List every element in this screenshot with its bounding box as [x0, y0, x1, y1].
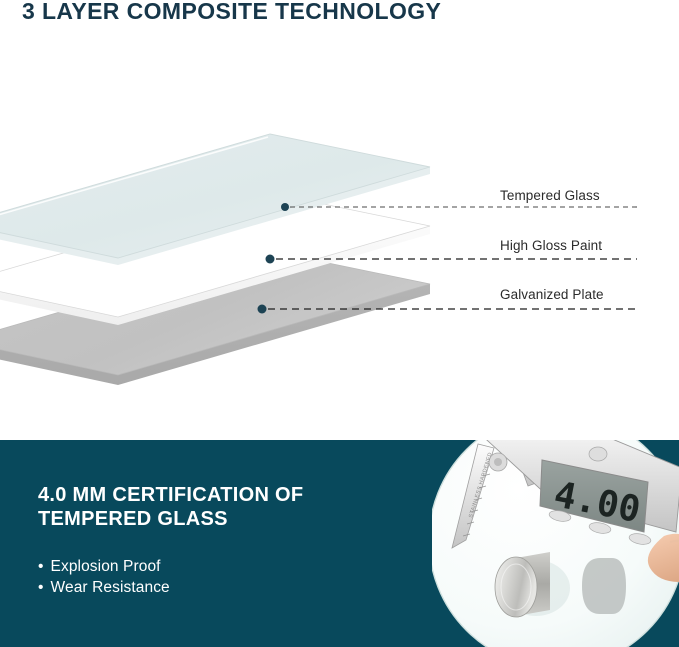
list-item: Wear Resistance [38, 578, 170, 599]
knob-rear [582, 558, 626, 614]
feature-bullet-list: Explosion Proof Wear Resistance [38, 557, 170, 599]
layer-label-tempered-glass: Tempered Glass [500, 188, 600, 203]
certification-heading: 4.0 MM CERTIFICATION OF TEMPERED GLASS [38, 484, 303, 531]
leader-dot-galvanized-plate [258, 305, 267, 314]
leader-dot-high-gloss-paint [266, 255, 275, 264]
page-title: 3 LAYER COMPOSITE TECHNOLOGY [22, 0, 441, 25]
layer-label-galvanized-plate: Galvanized Plate [500, 287, 604, 302]
infographic-root: 3 LAYER COMPOSITE TECHNOLOGY [0, 0, 679, 647]
leader-dot-tempered-glass [281, 203, 289, 211]
list-item: Explosion Proof [38, 557, 170, 578]
caliper-measuring-glass-photo: 4.00 STAINLESS HARDENED [432, 440, 679, 647]
layer-label-high-gloss-paint: High Gloss Paint [500, 238, 602, 253]
